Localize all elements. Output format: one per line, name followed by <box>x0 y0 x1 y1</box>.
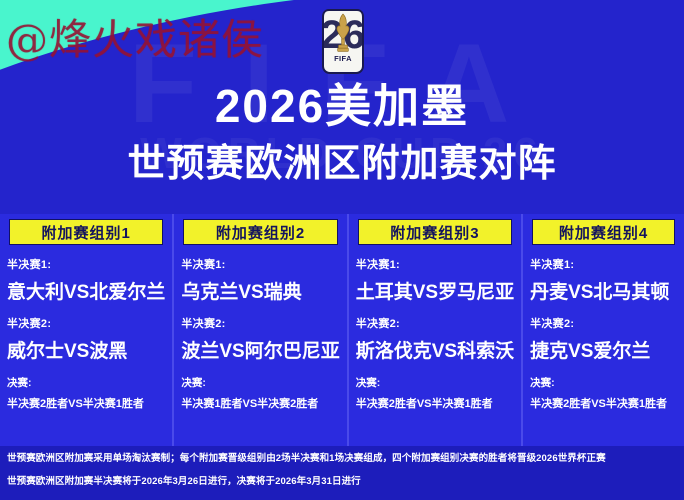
footer-line-format: 世预赛欧洲区附加赛采用单场淘汰赛制；每个附加赛晋级组别由2场半决赛和1场决赛组成… <box>7 453 677 466</box>
final-label: 决赛: <box>181 375 339 390</box>
fifa-world-cup-26-logo: 26 FIFA <box>321 8 365 76</box>
semifinal-2-match: 斯洛伐克VS科索沃 <box>356 336 514 363</box>
playoff-group-column: 附加赛组别4 半决赛1: 丹麦VS北马其顿 半决赛2: 捷克VS爱尔兰 决赛: … <box>523 214 684 446</box>
final-match: 半决赛2胜者VS半决赛1胜者 <box>7 395 165 411</box>
page-title-sub: 世预赛欧洲区附加赛对阵 <box>0 145 684 185</box>
logo-caption-fifa: FIFA <box>321 54 365 63</box>
final-label: 决赛: <box>530 375 677 390</box>
final-match: 半决赛2胜者VS半决赛1胜者 <box>356 395 514 411</box>
playoff-group-column: 附加赛组别2 半决赛1: 乌克兰VS瑞典 半决赛2: 波兰VS阿尔巴尼亚 决赛:… <box>174 214 348 446</box>
group-header: 附加赛组别2 <box>183 219 337 245</box>
semifinal-2-label: 半决赛2: <box>356 315 514 331</box>
hero-banner: FIFA WORLD CUP 26 26 FIFA @烽火戏诸侯 2026美加墨… <box>0 0 684 214</box>
footer-notes: 世预赛欧洲区附加赛采用单场淘汰赛制；每个附加赛晋级组别由2场半决赛和1场决赛组成… <box>0 446 684 500</box>
semifinal-2-match: 威尔士VS波黑 <box>7 336 165 363</box>
semifinal-2-match: 波兰VS阿尔巴尼亚 <box>181 336 339 363</box>
footer-line-dates: 世预赛欧洲区附加赛半决赛将于2026年3月26日进行，决赛将于2026年3月31… <box>7 476 677 489</box>
semifinal-1-label: 半决赛1: <box>530 256 677 272</box>
semifinal-1-label: 半决赛1: <box>356 256 514 272</box>
semifinal-2-match: 捷克VS爱尔兰 <box>530 336 677 363</box>
final-match: 半决赛2胜者VS半决赛1胜者 <box>530 395 677 411</box>
final-label: 决赛: <box>7 375 165 390</box>
semifinal-1-match: 意大利VS北爱尔兰 <box>7 277 165 304</box>
watermark-text: @烽火戏诸侯 <box>6 6 264 67</box>
semifinal-1-match: 土耳其VS罗马尼亚 <box>356 277 514 304</box>
playoff-bracket-grid: 附加赛组别1 半决赛1: 意大利VS北爱尔兰 半决赛2: 威尔士VS波黑 决赛:… <box>0 214 684 446</box>
final-label: 决赛: <box>356 375 514 390</box>
semifinal-1-label: 半决赛1: <box>7 256 165 272</box>
semifinal-2-label: 半决赛2: <box>530 315 677 331</box>
semifinal-1-match: 乌克兰VS瑞典 <box>181 277 339 304</box>
final-match: 半决赛1胜者VS半决赛2胜者 <box>181 395 339 411</box>
logo-plate-shape: 26 <box>321 8 365 76</box>
semifinal-1-match: 丹麦VS北马其顿 <box>530 277 677 304</box>
group-header: 附加赛组别3 <box>358 219 512 245</box>
semifinal-1-label: 半决赛1: <box>181 256 339 272</box>
semifinal-2-label: 半决赛2: <box>181 315 339 331</box>
page-title-main: 2026美加墨 <box>0 82 684 130</box>
group-header: 附加赛组别4 <box>532 219 675 245</box>
semifinal-2-label: 半决赛2: <box>7 315 165 331</box>
group-header: 附加赛组别1 <box>9 219 163 245</box>
playoff-group-column: 附加赛组别1 半决赛1: 意大利VS北爱尔兰 半决赛2: 威尔士VS波黑 决赛:… <box>0 214 174 446</box>
playoff-group-column: 附加赛组别3 半决赛1: 土耳其VS罗马尼亚 半决赛2: 斯洛伐克VS科索沃 决… <box>349 214 523 446</box>
